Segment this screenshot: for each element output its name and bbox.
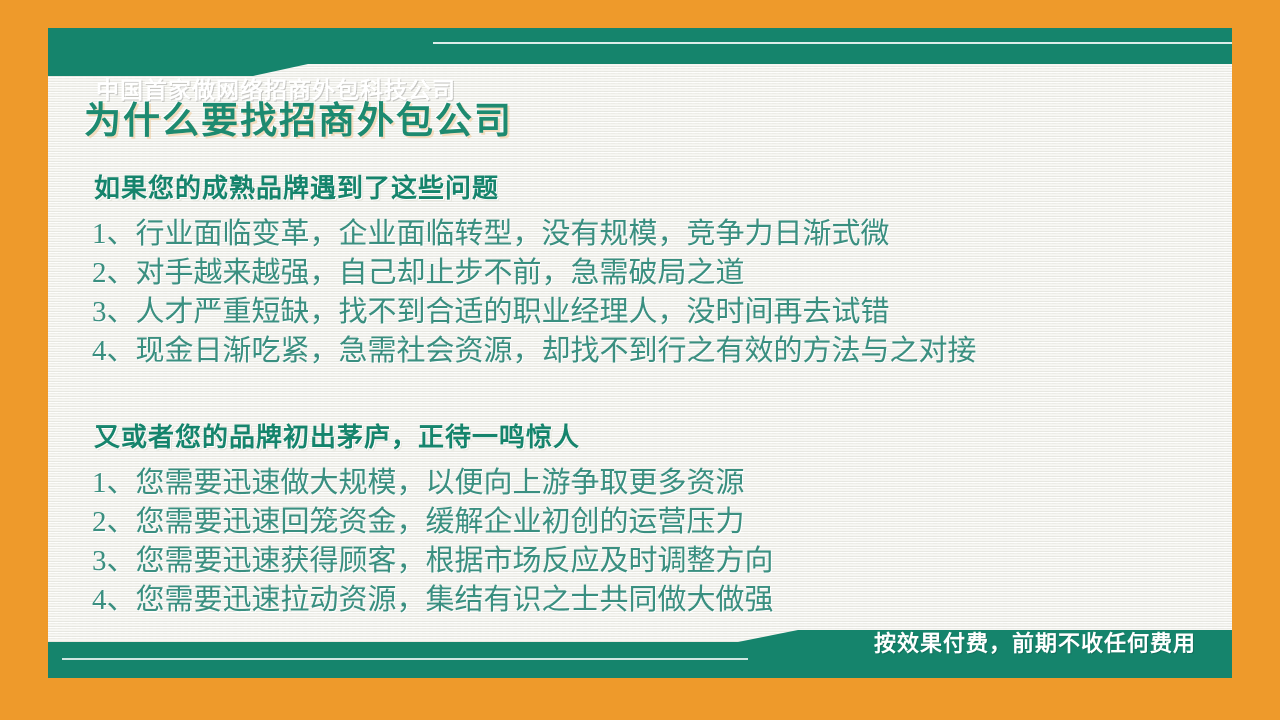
list-item: 4、您需要迅速拉动资源，集结有识之士共同做大做强 [92,581,1232,620]
list-item: 3、人才严重短缺，找不到合适的职业经理人，没时间再去试错 [92,293,1232,332]
list-item: 2、您需要迅速回笼资金，缓解企业初创的运营压力 [92,503,1232,542]
section-heading-1: 如果您的成熟品牌遇到了这些问题 [94,168,1232,205]
section-heading-2: 又或者您的品牌初出茅庐，正待一鸣惊人 [94,417,1232,454]
section-list-1: 1、行业面临变革，企业面临转型，没有规模，竞争力日渐式微 2、对手越来越强，自己… [92,215,1232,371]
footer-hairline [62,658,748,660]
slide-root: 中国首家做网络招商外包科技公司 为什么要找招商外包公司 如果您的成熟品牌遇到了这… [0,0,1280,720]
section-spacer [48,371,1232,393]
list-item: 3、您需要迅速获得顾客，根据市场反应及时调整方向 [92,542,1232,581]
content-area: 为什么要找招商外包公司 如果您的成熟品牌遇到了这些问题 1、行业面临变革，企业面… [48,90,1232,620]
header-tagline: 中国首家做网络招商外包科技公司 [96,71,456,105]
list-item: 1、您需要迅速做大规模，以便向上游争取更多资源 [92,464,1232,503]
header-hairline [433,42,1232,44]
footer-tagline: 按效果付费，前期不收任何费用 [874,626,1196,658]
header-green-shape [48,28,1232,76]
list-item: 4、现金日渐吃紧，急需社会资源，却找不到行之有效的方法与之对接 [92,332,1232,371]
paper-panel: 中国首家做网络招商外包科技公司 为什么要找招商外包公司 如果您的成熟品牌遇到了这… [48,28,1232,678]
list-item: 1、行业面临变革，企业面临转型，没有规模，竞争力日渐式微 [92,215,1232,254]
list-item: 2、对手越来越强，自己却止步不前，急需破局之道 [92,254,1232,293]
section-list-2: 1、您需要迅速做大规模，以便向上游争取更多资源 2、您需要迅速回笼资金，缓解企业… [92,464,1232,620]
